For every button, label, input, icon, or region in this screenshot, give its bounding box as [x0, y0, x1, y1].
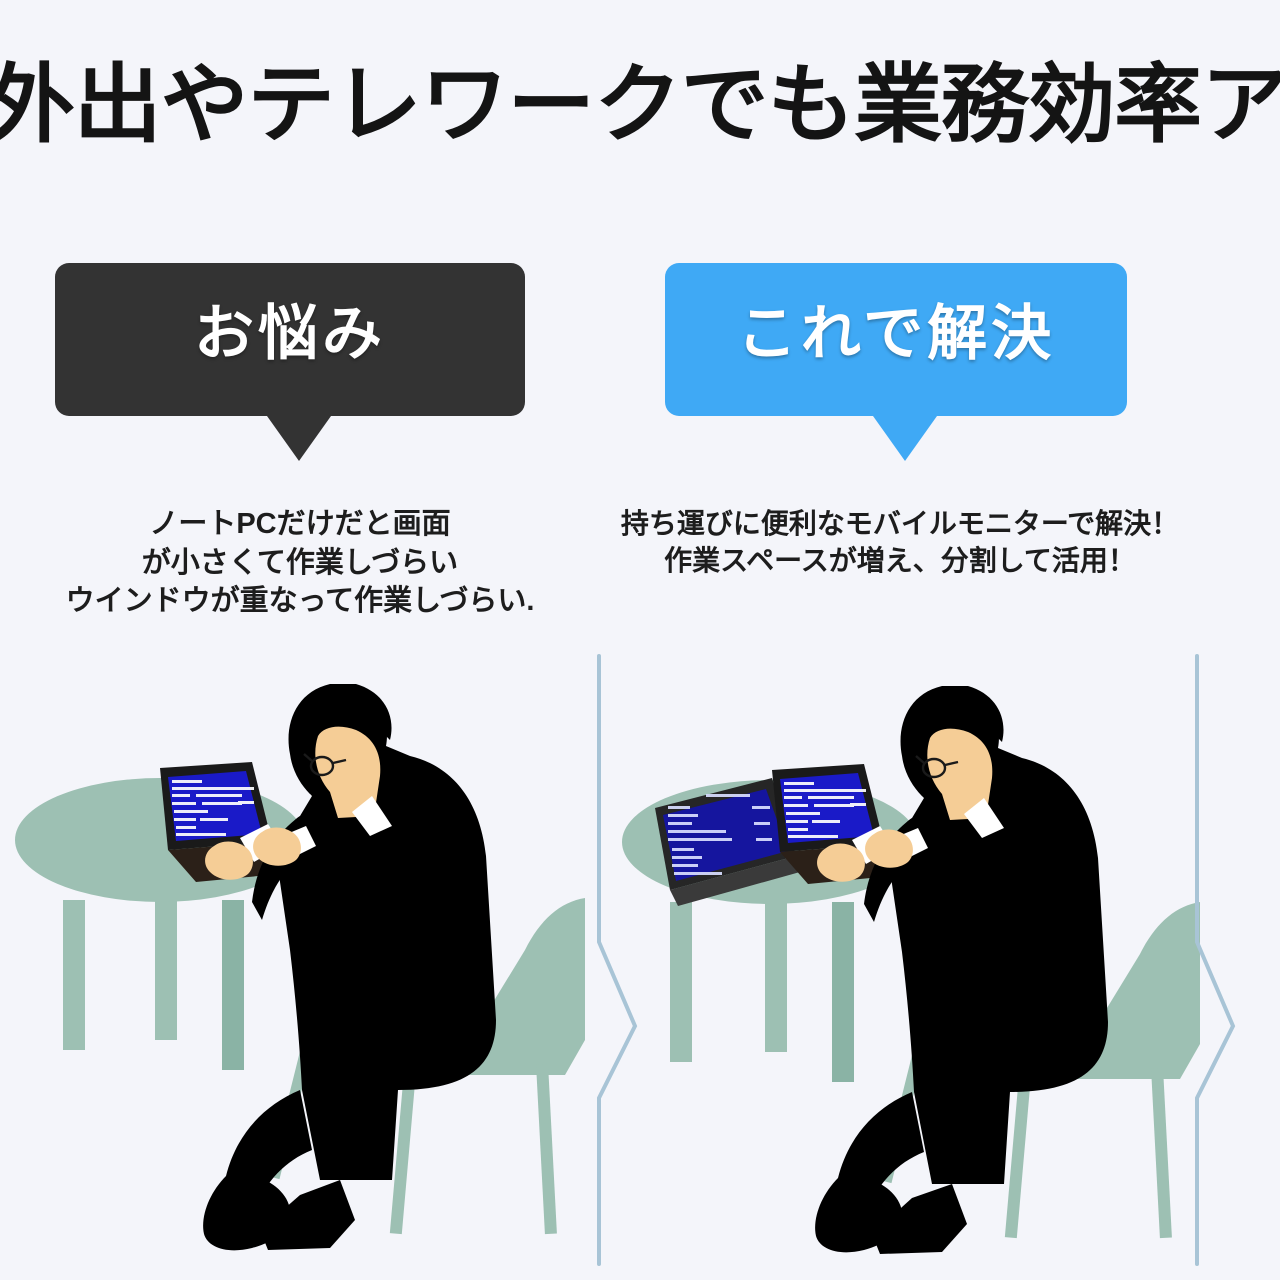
solution-caption: 持ち運びに便利なモバイルモニターで解決！ 作業スペースが増え、分割して活用！ [620, 505, 1180, 579]
problem-bubble-label: お悩み [194, 304, 386, 364]
page-title: 外出やテレワークでも業務効率アップ [0, 62, 1280, 148]
solution-caption-line-1: 持ち運びに便利なモバイルモニターで解決！ [620, 505, 1180, 542]
problem-caption-line-2: が小さくて作業しづらい [40, 544, 560, 583]
problem-caption-line-3: ウインドウが重なって作業しづらい. [40, 582, 560, 621]
solution-caption-line-2: 作業スペースが増え、分割して活用！ [620, 542, 1180, 579]
solution-bubble-label: これで解決 [737, 304, 1055, 364]
problem-caption: ノートPCだけだと画面 が小さくて作業しづらい ウインドウが重なって作業しづらい… [40, 505, 560, 621]
chevron-divider-line-icon [1197, 656, 1233, 1264]
scene-problem-illustration [0, 620, 620, 1280]
solution-speech-bubble: これで解決 [665, 263, 1127, 416]
chevron-divider-middle [565, 650, 685, 1270]
chevron-divider-line-icon [599, 656, 635, 1264]
problem-bubble-tail-icon [267, 416, 331, 461]
problem-caption-line-1: ノートPCだけだと画面 [40, 505, 560, 544]
solution-bubble-tail-icon [873, 416, 937, 461]
problem-speech-bubble: お悩み [55, 263, 525, 416]
poster-root: 外出やテレワークでも業務効率アップ お悩み これで解決 ノートPCだけだと画面 … [0, 0, 1280, 1280]
chevron-divider-right [1163, 650, 1280, 1270]
